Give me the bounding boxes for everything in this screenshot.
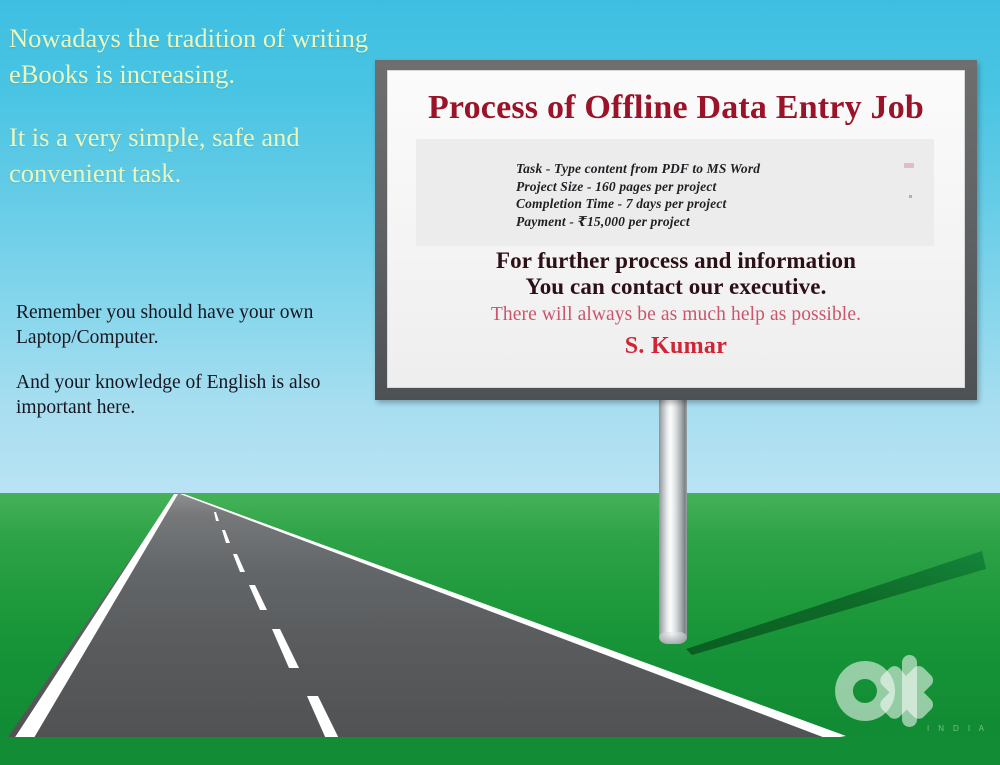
billboard-advertisement-image: I N D I A Process of Offline Data Entry … — [0, 0, 1000, 765]
cta-subtext: There will always be as much help as pos… — [387, 300, 965, 329]
cta-line-1: For further process and information — [387, 248, 965, 274]
headline-paragraph-1: Nowadays the tradition of writing eBooks… — [9, 20, 377, 93]
requirements-paragraph-1: Remember you should have your own Laptop… — [16, 301, 374, 350]
job-details-box: Task - Type content from PDF to MS Word … — [416, 139, 934, 246]
billboard-face: Process of Offline Data Entry Job Task -… — [387, 70, 965, 388]
print-artifact-dot — [909, 195, 912, 198]
requirements-copy-block: Remember you should have your own Laptop… — [16, 301, 374, 420]
billboard-pole — [659, 398, 687, 641]
job-detail-project-size: Project Size - 160 pages per project — [516, 178, 934, 196]
billboard-call-to-action: For further process and information You … — [387, 248, 965, 362]
job-detail-payment: Payment - ₹15,000 per project — [516, 213, 934, 231]
cta-contact-name: S. Kumar — [387, 330, 965, 362]
billboard-pole-base — [659, 632, 687, 644]
print-artifact-mark — [904, 163, 914, 168]
headline-paragraph-2: It is a very simple, safe and convenient… — [9, 119, 377, 192]
cta-line-2: You can contact our executive. — [387, 274, 965, 300]
billboard-frame: Process of Offline Data Entry Job Task -… — [375, 60, 977, 400]
requirements-paragraph-2: And your knowledge of English is also im… — [16, 371, 374, 420]
billboard-title: Process of Offline Data Entry Job — [387, 90, 965, 126]
olx-watermark-region: I N D I A — [927, 724, 987, 733]
olx-watermark-logo — [829, 655, 981, 747]
headline-copy-block: Nowadays the tradition of writing eBooks… — [9, 20, 377, 191]
job-detail-task: Task - Type content from PDF to MS Word — [516, 160, 934, 178]
road-surface — [8, 494, 845, 750]
job-detail-completion-time: Completion Time - 7 days per project — [516, 195, 934, 213]
job-details-list: Task - Type content from PDF to MS Word … — [416, 139, 934, 230]
